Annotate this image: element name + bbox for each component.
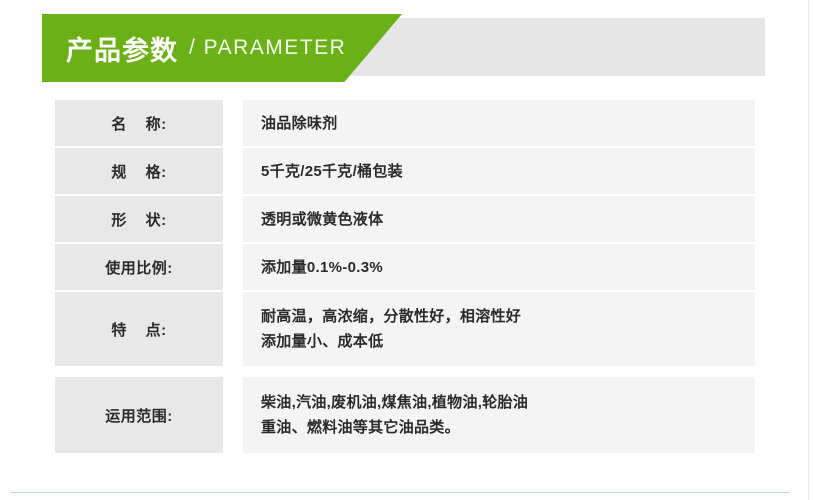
table-row-value-line: 透明或微黄色液体 xyxy=(261,207,755,232)
table-row-label-cell: 使用比例: xyxy=(55,244,223,290)
table-row-value-line: 重油、燃料油等其它油品类。 xyxy=(261,415,755,440)
table-row-label: 特 点: xyxy=(111,319,166,340)
table-row: 形 状: 透明或微黄色液体 xyxy=(55,196,755,242)
table-row-value-cell: 透明或微黄色液体 xyxy=(243,196,755,242)
page-title-en: / PARAMETER xyxy=(189,36,346,60)
bottom-divider xyxy=(10,492,790,493)
table-row-label-cell: 运用范围: xyxy=(55,377,223,453)
table-row-value-cell: 柴油,汽油,废机油,煤焦油,植物油,轮胎油 重油、燃料油等其它油品类。 xyxy=(243,377,755,453)
page-title: 产品参数 / PARAMETER xyxy=(66,14,346,82)
table-row-label-cell: 规 格: xyxy=(55,148,223,194)
table-row-value-cell: 5千克/25千克/桶包装 xyxy=(243,148,755,194)
table-row-label-cell: 特 点: xyxy=(55,292,223,366)
table-row-value-cell: 添加量0.1%-0.3% xyxy=(243,244,755,290)
table-row-value-line: 添加量0.1%-0.3% xyxy=(261,255,755,280)
table-row-label: 名 称: xyxy=(111,113,166,134)
table-row-value-line: 柴油,汽油,废机油,煤焦油,植物油,轮胎油 xyxy=(261,390,755,415)
table-row-label-cell: 形 状: xyxy=(55,196,223,242)
table-row-label-cell: 名 称: xyxy=(55,100,223,146)
table-row-label: 规 格: xyxy=(111,161,166,182)
table-row: 名 称: 油品除味剂 xyxy=(55,100,755,146)
table-row-label: 运用范围: xyxy=(105,405,173,426)
table-row-value-line: 油品除味剂 xyxy=(261,111,755,136)
table-row: 特 点: 耐高温，高浓缩，分散性好，相溶性好 添加量小、成本低 xyxy=(55,292,755,366)
table-row: 规 格: 5千克/25千克/桶包装 xyxy=(55,148,755,194)
page-edge-rule xyxy=(808,0,809,500)
page-title-cn: 产品参数 xyxy=(66,29,178,68)
table-row-value-cell: 油品除味剂 xyxy=(243,100,755,146)
table-row-value-line: 添加量小、成本低 xyxy=(261,329,755,354)
table-row-value-line: 耐高温，高浓缩，分散性好，相溶性好 xyxy=(261,304,755,329)
table-row: 运用范围: 柴油,汽油,废机油,煤焦油,植物油,轮胎油 重油、燃料油等其它油品类… xyxy=(55,377,755,453)
table-row-value-line: 5千克/25千克/桶包装 xyxy=(261,159,755,184)
table-row: 使用比例: 添加量0.1%-0.3% xyxy=(55,244,755,290)
parameter-table: 名 称: 油品除味剂 规 格: 5千克/25千克/桶包装 形 状: 透明或微黄色… xyxy=(55,100,755,453)
table-row-value-cell: 耐高温，高浓缩，分散性好，相溶性好 添加量小、成本低 xyxy=(243,292,755,366)
row-block-gap xyxy=(55,366,755,377)
table-row-label: 使用比例: xyxy=(105,257,173,278)
table-row-label: 形 状: xyxy=(111,209,166,230)
section-header-banner: 产品参数 / PARAMETER xyxy=(42,14,765,82)
